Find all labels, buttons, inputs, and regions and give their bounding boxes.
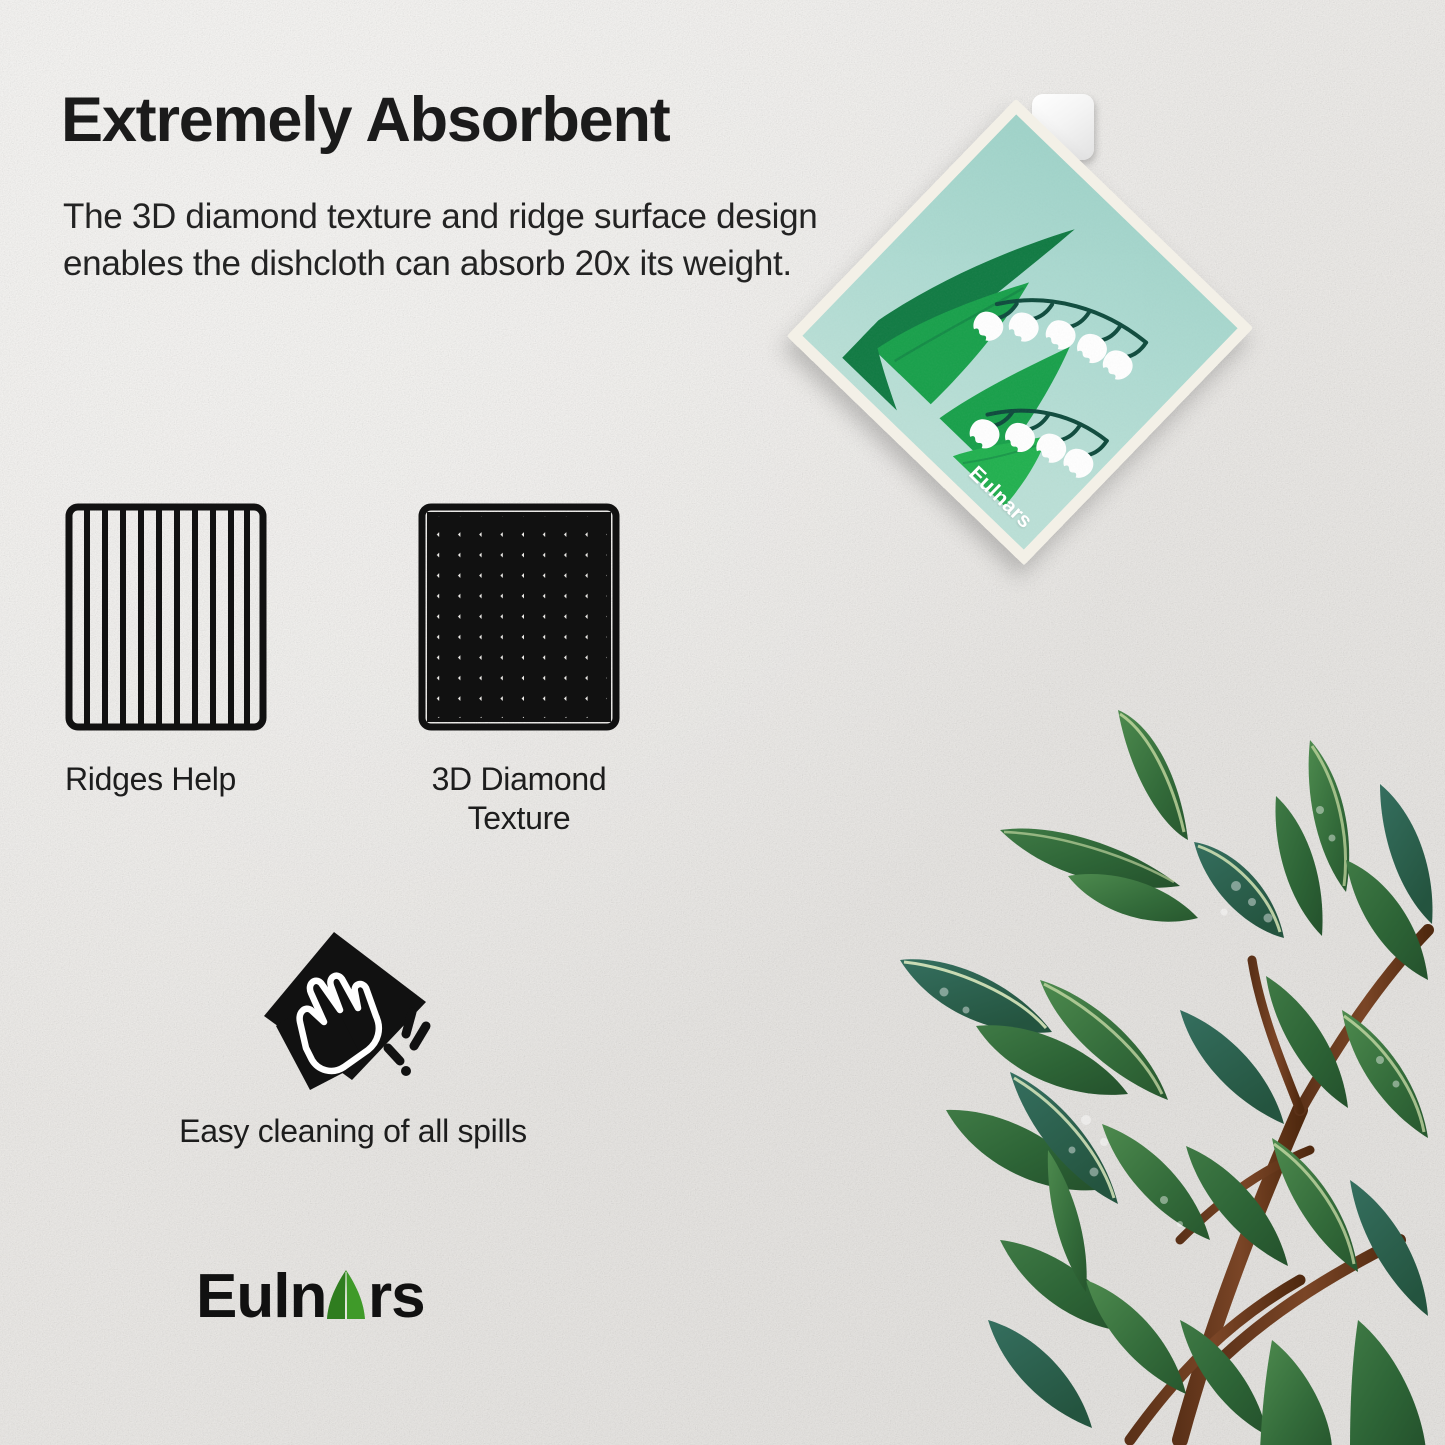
feature-easy-cleaning: Easy cleaning of all spills <box>128 930 578 1150</box>
dishcloth-artwork: Eulnars <box>802 114 1238 550</box>
dishcloth: Eulnars <box>787 99 1254 566</box>
subheadline-copy: The 3D diamond texture and ridge surface… <box>63 194 863 287</box>
brand-logo-text-before: Euln <box>196 1262 326 1331</box>
feature-ridges-label: Ridges Help <box>65 760 267 799</box>
hand-wiping-cloth-icon <box>248 930 458 1095</box>
brand-logo-leaf-icon <box>327 1270 365 1319</box>
brand-logo: Euln rs <box>196 1262 458 1341</box>
brand-logo-mark: Euln rs <box>196 1262 458 1336</box>
ridges-pattern-icon <box>65 503 267 731</box>
lily-of-the-valley-print <box>802 114 1238 550</box>
feature-diamond-label: 3D Diamond Texture <box>418 760 620 838</box>
diamond-lattice-icon <box>418 503 620 731</box>
feature-easy-cleaning-label: Easy cleaning of all spills <box>128 1113 578 1150</box>
product-infographic: Extremely Absorbent The 3D diamond textu… <box>0 0 1445 1445</box>
plant-photo <box>880 680 1445 1445</box>
product-photo: Eulnars <box>803 147 1243 667</box>
feature-diamond-label-line2: Texture <box>468 800 571 836</box>
feature-ridges: Ridges Help <box>65 503 267 799</box>
brand-logo-text-after: rs <box>368 1262 425 1331</box>
headline: Extremely Absorbent <box>61 88 670 153</box>
feature-diamond-label-line1: 3D Diamond <box>432 761 607 797</box>
feature-diamond-texture: 3D Diamond Texture <box>418 503 620 838</box>
